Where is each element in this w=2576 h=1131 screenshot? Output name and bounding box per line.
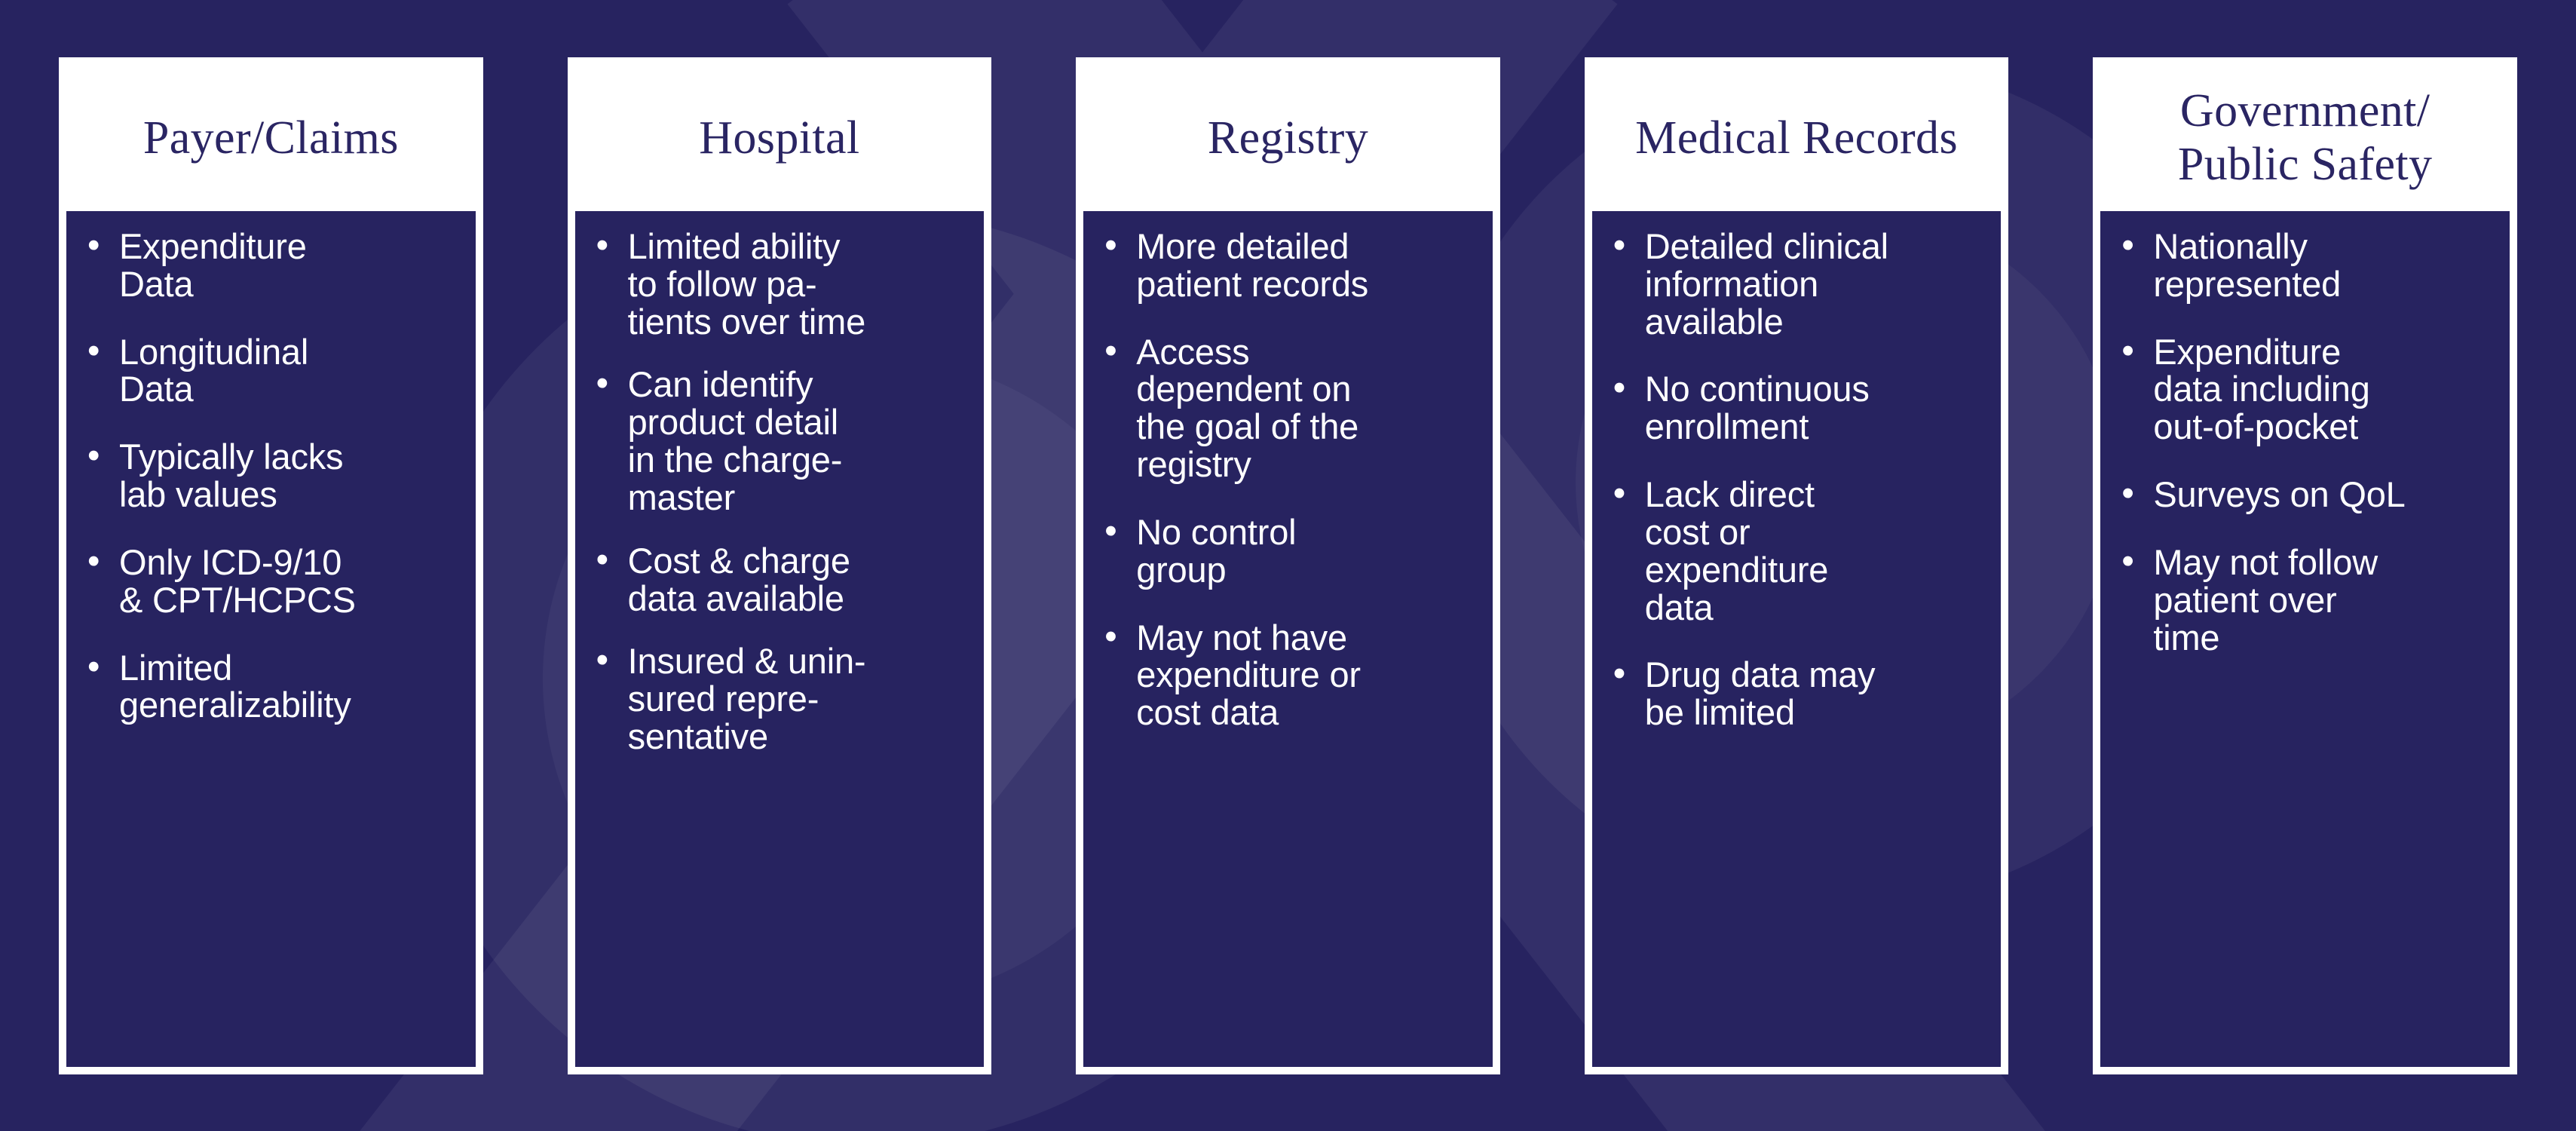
list-item: More detailed patient records [1094,228,1482,303]
card-body: More detailed patient records Access dep… [1083,211,1493,1067]
list-item: Access dependent on the goal of the regi… [1094,333,1482,483]
card-title-area: Medical Records [1592,65,2002,211]
bullet-list: More detailed patient records Access dep… [1094,228,1482,731]
bullet-list: Limited ability to follow pa- tients ove… [586,228,974,756]
list-item: No continuous enrollment [1603,370,1991,446]
card-body: Limited ability to follow pa- tients ove… [575,211,985,1067]
list-item: Expenditure Data [77,228,465,303]
list-item: Nationally represented [2111,228,2499,303]
list-item: Detailed clinical information available [1603,228,1991,340]
list-item: Limited generalizability [77,649,465,725]
card-medical-records[interactable]: Medical Records Detailed clinical inform… [1585,57,2009,1074]
list-item: Drug data may be limited [1603,656,1991,731]
list-item: May not follow patient over time [2111,544,2499,656]
card-body: Expenditure Data Longitudinal Data Typic… [66,211,476,1067]
list-item: Cost & charge data available [586,542,974,618]
list-item: No control group [1094,513,1482,589]
card-government-public-safety[interactable]: Government/ Public Safety Nationally rep… [2093,57,2517,1074]
card-title-area: Hospital [575,65,985,211]
list-item: Only ICD-9/10 & CPT/HCPCS [77,544,465,619]
card-hospital[interactable]: Hospital Limited ability to follow pa- t… [568,57,992,1074]
list-item: Insured & unin- sured repre- sentative [586,642,974,755]
card-title: Registry [1208,112,1368,165]
card-title-area: Registry [1083,65,1493,211]
card-registry[interactable]: Registry More detailed patient records A… [1076,57,1500,1074]
bullet-list: Detailed clinical information available … [1603,228,1991,731]
list-item: May not have expenditure or cost data [1094,619,1482,731]
list-item: Lack direct cost or expenditure data [1603,476,1991,626]
card-body: Nationally represented Expenditure data … [2100,211,2510,1067]
card-title-area: Payer/Claims [66,65,476,211]
card-title-area: Government/ Public Safety [2100,65,2510,211]
list-item: Can identify product detail in the charg… [586,366,974,516]
list-item: Limited ability to follow pa- tients ove… [586,228,974,340]
card-title: Hospital [699,112,859,165]
card-title: Payer/Claims [143,112,399,165]
list-item: Expenditure data including out-of-pocket [2111,333,2499,446]
list-item: Surveys on QoL [2111,476,2499,513]
card-body: Detailed clinical information available … [1592,211,2002,1067]
list-item: Typically lacks lab values [77,438,465,513]
comparison-card-row: Payer/Claims Expenditure Data Longitudin… [59,57,2517,1074]
card-payer-claims[interactable]: Payer/Claims Expenditure Data Longitudin… [59,57,483,1074]
bullet-list: Expenditure Data Longitudinal Data Typic… [77,228,465,724]
list-item: Longitudinal Data [77,333,465,409]
card-title: Medical Records [1635,112,1958,165]
bullet-list: Nationally represented Expenditure data … [2111,228,2499,656]
card-title: Government/ Public Safety [2178,84,2433,191]
